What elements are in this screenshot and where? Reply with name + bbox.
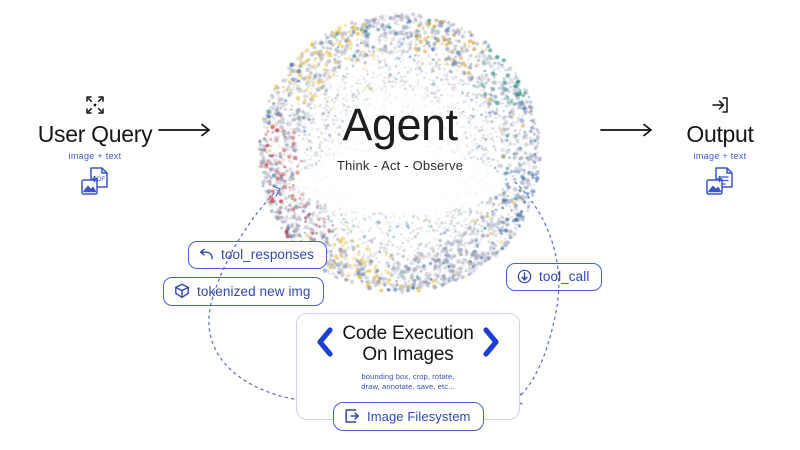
cube-3d-icon	[174, 283, 190, 299]
chevron-left-icon[interactable]	[315, 327, 335, 362]
pill-tool-call-label: tool_call	[539, 269, 589, 284]
output-block: Output image + text	[635, 92, 800, 198]
agent-subtitle: Think - Act - Observe	[275, 158, 525, 173]
pill-tool-call[interactable]: tool_call	[506, 263, 602, 291]
chevron-right-icon[interactable]	[481, 327, 501, 362]
arrow-uturn-left-icon	[199, 248, 214, 262]
output-subtitle: image + text	[635, 151, 800, 161]
pill-tokenized-label: tokenized new img	[197, 284, 311, 299]
pill-image-filesystem-label: Image Filesystem	[367, 409, 470, 424]
pdf-image-document-icon: PDF	[10, 166, 180, 198]
pill-image-filesystem[interactable]: Image Filesystem	[333, 402, 484, 431]
pill-tool-responses[interactable]: tool_responses	[188, 241, 327, 269]
circle-arrow-down-icon	[517, 269, 532, 284]
focus-corners-icon	[10, 92, 180, 118]
output-title: Output	[635, 120, 800, 148]
code-execution-title: Code Execution On Images	[342, 323, 473, 365]
code-sub-line1: bounding box, crop, rotate,	[361, 372, 454, 381]
pill-tool-responses-label: tool_responses	[221, 247, 314, 262]
pill-tokenized-new-img[interactable]: tokenized new img	[163, 277, 324, 306]
agent-title: Agent	[275, 100, 525, 150]
code-execution-subtitle: bounding box, crop, rotate, draw, annota…	[297, 372, 519, 392]
arc-tool-responses-arrowhead	[273, 186, 280, 196]
user-query-subtitle: image + text	[10, 151, 180, 161]
user-query-title: User Query	[10, 120, 180, 148]
export-arrow-icon	[635, 92, 800, 118]
arrow-right-icon-input	[158, 122, 214, 143]
pdf-image-document-icon-output	[635, 166, 800, 198]
arc-tool-call	[515, 182, 559, 400]
diagram-canvas: User Query image + text PDF	[0, 0, 800, 450]
code-sub-line2: draw, annotate, save, etc...	[361, 382, 455, 391]
agent-block: Agent Think - Act - Observe	[275, 100, 525, 173]
user-query-block: User Query image + text PDF	[10, 92, 180, 198]
code-title-line1: Code Execution	[342, 323, 473, 344]
file-arrow-icon	[344, 408, 360, 424]
code-title-line2: On Images	[362, 344, 453, 365]
